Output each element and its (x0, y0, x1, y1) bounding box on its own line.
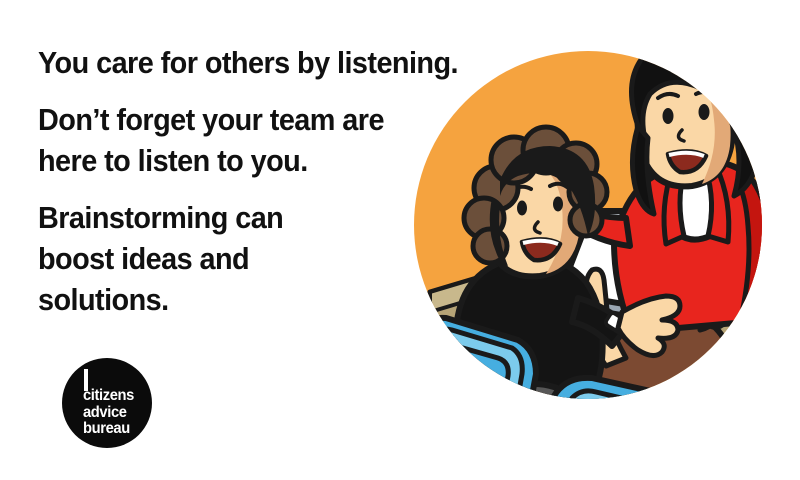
paragraph-gap (38, 83, 418, 99)
paragraph-gap (38, 181, 418, 197)
message-line-3: here to listen to you. (38, 140, 391, 181)
message-line-4: Brainstorming can (38, 197, 391, 238)
chair-right (554, 378, 700, 480)
logo-line-bureau: bureau (83, 421, 142, 438)
message-line-5: boost ideas and (38, 238, 391, 279)
coffee-mug (741, 327, 792, 386)
logo-line-advice: advice (83, 405, 142, 422)
message-line-1: You care for others by listening. (38, 42, 391, 83)
citizens-advice-bureau-logo: citizens advice bureau (62, 358, 152, 448)
message-line-2: Don’t forget your team are (38, 99, 391, 140)
message-line-6: solutions. (38, 279, 391, 320)
message-block: You care for others by listening. Don’t … (38, 42, 418, 320)
team-meeting-illustration (400, 30, 800, 480)
logo-wordmark: citizens advice bureau (83, 388, 142, 438)
logo-line-citizens: citizens (83, 388, 142, 405)
chair-left (406, 318, 536, 444)
